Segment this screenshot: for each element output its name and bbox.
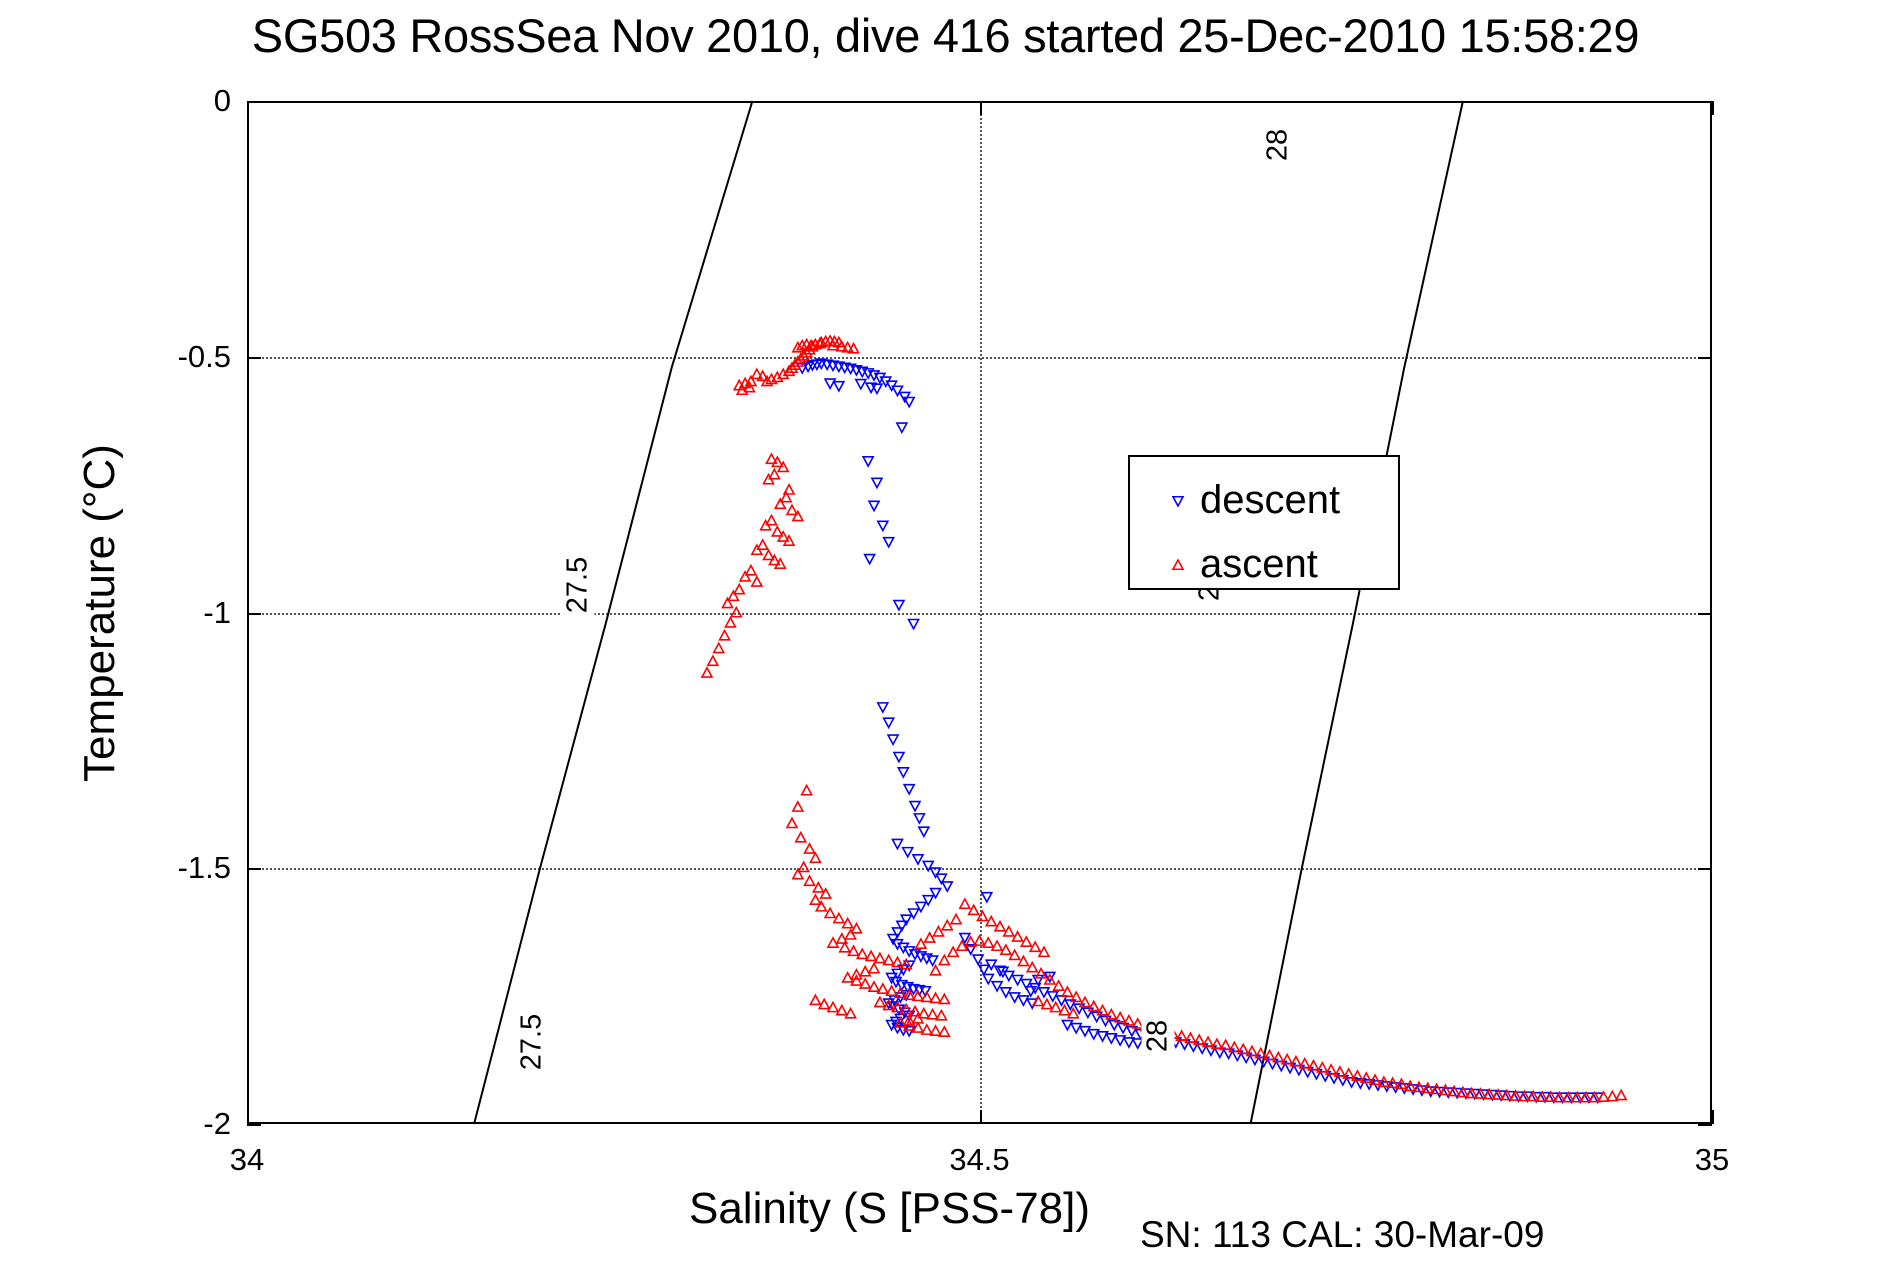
- data-point: [869, 982, 879, 991]
- data-point: [1177, 1031, 1187, 1040]
- y-tick-label: -2: [0, 1106, 231, 1142]
- data-point: [931, 868, 941, 877]
- data-point: [1059, 1005, 1069, 1014]
- legend-label: ascent: [1200, 542, 1318, 587]
- data-point: [843, 973, 853, 982]
- data-point: [1291, 1057, 1301, 1066]
- x-tick: [1712, 1110, 1714, 1124]
- data-point: [1256, 1048, 1266, 1057]
- data-point: [936, 1011, 946, 1020]
- data-point: [1344, 1069, 1354, 1078]
- data-point: [1300, 1059, 1310, 1068]
- data-point: [775, 499, 785, 508]
- data-point: [948, 947, 958, 956]
- contour-label: 28: [1142, 1018, 1175, 1054]
- data-point: [897, 423, 907, 432]
- scatter-data: [247, 101, 1712, 1124]
- data-point: [909, 620, 919, 629]
- data-point: [898, 768, 908, 777]
- data-point: [928, 1010, 938, 1019]
- data-point: [728, 591, 738, 600]
- data-point: [916, 939, 926, 948]
- x-tick-label: 35: [1695, 1142, 1729, 1178]
- sensor-calibration-text: SN: 113 CAL: 30-Mar-09: [1140, 1214, 1544, 1256]
- data-point: [1080, 1027, 1090, 1036]
- data-point: [910, 802, 920, 811]
- x-tick-label: 34: [230, 1142, 264, 1178]
- data-point: [1071, 1024, 1081, 1033]
- legend-entry-ascent[interactable]: ascent: [1130, 537, 1402, 591]
- data-point: [939, 1027, 949, 1036]
- data-point: [796, 833, 806, 842]
- page-title: SG503 RossSea Nov 2010, dive 416 started…: [0, 8, 1891, 63]
- data-point: [787, 818, 797, 827]
- data-point: [816, 902, 826, 911]
- data-point: [919, 827, 929, 836]
- data-point: [960, 899, 970, 908]
- data-point: [869, 964, 879, 973]
- data-point: [925, 933, 935, 942]
- data-point: [793, 511, 803, 520]
- data-point: [860, 979, 870, 988]
- data-point: [1309, 1061, 1319, 1070]
- data-point: [1194, 1035, 1204, 1044]
- data-point: [887, 986, 897, 995]
- data-point: [931, 966, 941, 975]
- y-tick-label: -0.5: [0, 339, 231, 375]
- data-point: [865, 555, 875, 564]
- data-point: [931, 993, 941, 1002]
- data-point: [746, 566, 756, 575]
- data-point: [1335, 1067, 1345, 1076]
- data-point: [1027, 962, 1037, 971]
- data-point: [878, 521, 888, 530]
- y-axis-label: Temperature (°C): [75, 444, 125, 782]
- x-tick-label: 34.5: [949, 1142, 1009, 1178]
- data-point: [884, 538, 894, 547]
- x-axis-label: Salinity (S [PSS-78]): [689, 1184, 1090, 1234]
- data-point: [894, 601, 904, 610]
- data-point: [894, 752, 904, 761]
- data-point: [825, 379, 835, 388]
- data-point: [866, 951, 876, 960]
- data-point: [840, 943, 850, 952]
- data-point: [1212, 1039, 1222, 1048]
- data-point: [1018, 956, 1028, 965]
- data-point: [813, 883, 823, 892]
- y-tick-right: [1698, 1124, 1712, 1126]
- data-point: [933, 927, 943, 936]
- data-point: [914, 814, 924, 823]
- data-point: [1282, 1055, 1292, 1064]
- data-point: [1273, 1053, 1283, 1062]
- data-point: [872, 478, 882, 487]
- data-point: [1185, 1033, 1195, 1042]
- data-point: [1361, 1073, 1371, 1082]
- data-point: [863, 457, 873, 466]
- data-point: [805, 876, 815, 885]
- data-point: [846, 1009, 856, 1018]
- data-point: [884, 955, 894, 964]
- data-point: [913, 855, 923, 864]
- contour-label: 27.5: [516, 1012, 549, 1072]
- plot-axes: 27.527.5282828 descentascent: [247, 101, 1712, 1124]
- data-point: [799, 862, 809, 871]
- data-point: [928, 956, 938, 965]
- data-point: [1265, 1050, 1275, 1059]
- data-point: [793, 802, 803, 811]
- data-point: [977, 911, 987, 920]
- data-point: [992, 982, 1002, 991]
- data-point: [725, 618, 735, 627]
- data-point: [740, 572, 750, 581]
- data-point: [810, 995, 820, 1004]
- data-point: [752, 369, 762, 378]
- data-point: [846, 930, 856, 939]
- data-point: [973, 955, 983, 964]
- data-point: [903, 848, 913, 857]
- triangle-up-icon: [1130, 537, 1200, 591]
- data-point: [1062, 1021, 1072, 1030]
- contour-label: 27.5: [562, 555, 595, 615]
- data-point: [752, 577, 762, 586]
- data-point: [720, 631, 730, 640]
- data-point: [810, 853, 820, 862]
- data-point: [888, 735, 898, 744]
- data-point: [1010, 993, 1020, 1002]
- data-point: [931, 1026, 941, 1035]
- data-point: [860, 967, 870, 976]
- data-point: [708, 656, 718, 665]
- data-point: [878, 984, 888, 993]
- data-point: [1042, 999, 1052, 1008]
- data-point: [982, 893, 992, 902]
- data-point: [828, 1002, 838, 1011]
- data-point: [869, 501, 879, 510]
- data-point: [1203, 1037, 1213, 1046]
- data-point: [714, 643, 724, 652]
- y-tick-label: 0: [0, 83, 231, 119]
- data-point: [1326, 1065, 1336, 1074]
- data-point: [857, 949, 867, 958]
- data-point: [979, 965, 989, 974]
- data-point: [904, 785, 914, 794]
- y-tick-label: -1.5: [0, 850, 231, 886]
- data-point: [856, 380, 866, 389]
- triangle-down-icon: [1130, 473, 1200, 527]
- data-point: [1229, 1042, 1239, 1051]
- data-point: [1247, 1046, 1257, 1055]
- data-point: [951, 914, 961, 923]
- data-point: [884, 718, 894, 727]
- data-point: [975, 936, 985, 945]
- data-point: [837, 1005, 847, 1014]
- data-point: [983, 938, 993, 947]
- data-point: [810, 895, 820, 904]
- data-point: [734, 584, 744, 593]
- data-point: [904, 398, 914, 407]
- data-point: [787, 505, 797, 514]
- data-point: [875, 953, 885, 962]
- data-point: [802, 786, 812, 795]
- data-point: [1317, 1063, 1327, 1072]
- data-point: [825, 908, 835, 917]
- data-point: [1238, 1044, 1248, 1053]
- x-tick-top: [1712, 101, 1714, 115]
- data-point: [1018, 996, 1028, 1005]
- data-point: [1062, 987, 1072, 996]
- legend[interactable]: descentascent: [1128, 455, 1400, 590]
- y-tick: [247, 1124, 261, 1126]
- data-point: [942, 921, 952, 930]
- legend-entry-descent[interactable]: descent: [1130, 473, 1402, 527]
- data-point: [922, 1025, 932, 1034]
- data-point: [731, 608, 741, 617]
- contour-label: 28: [1262, 127, 1295, 163]
- data-point: [702, 668, 712, 677]
- legend-label: descent: [1200, 478, 1340, 523]
- series-ascent: [702, 336, 1626, 1102]
- data-point: [939, 994, 949, 1003]
- data-point: [892, 839, 902, 848]
- data-point: [1051, 1002, 1061, 1011]
- data-point: [1616, 1090, 1626, 1099]
- data-point: [942, 882, 952, 891]
- data-point: [878, 703, 888, 712]
- data-point: [805, 844, 815, 853]
- data-point: [1054, 981, 1064, 990]
- data-point: [1033, 996, 1043, 1005]
- data-point: [834, 382, 844, 391]
- data-point: [992, 941, 1002, 950]
- data-point: [969, 905, 979, 914]
